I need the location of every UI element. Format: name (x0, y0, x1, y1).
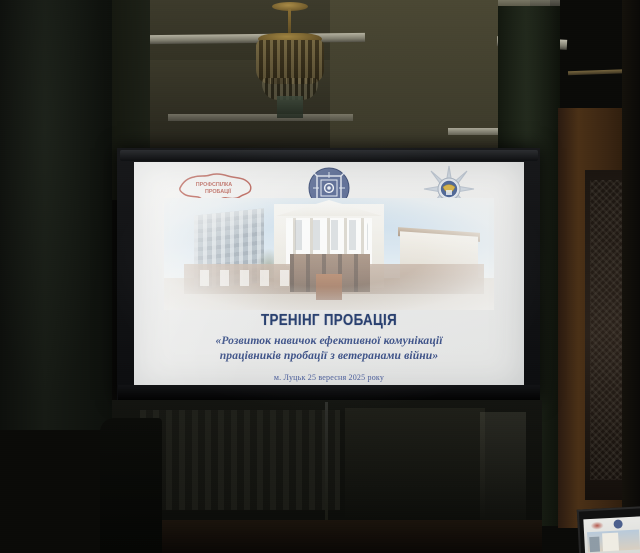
laptop-union-logo-icon (590, 521, 603, 530)
photo-entrance-door (316, 274, 342, 300)
svg-text:ПРОБАЦІЇ: ПРОБАЦІЇ (205, 188, 232, 195)
slide-subtitle-line-1: «Розвиток навичок ефективної комунікації (134, 334, 524, 347)
presentation-slide: ПРОФСПІЛКА ПРОБАЦІЇ (134, 162, 524, 390)
building-collage-photo (164, 198, 494, 310)
laptop-center-emblem-icon (613, 519, 622, 528)
chandelier-rod (288, 8, 291, 36)
foreground-dark-object (100, 418, 162, 553)
laptop-photo-block (589, 537, 600, 553)
lower-back-wall (345, 408, 485, 518)
slide-title: ТРЕНІНГ ПРОБАЦІЯ (161, 312, 496, 330)
pillar-left (0, 0, 112, 430)
slide-date-location: м. Луцьк 25 вересня 2025 року (134, 373, 524, 382)
presenter-laptop[interactable] (577, 506, 640, 553)
wall-far-right (622, 0, 640, 553)
crown-molding-lower-left (168, 114, 353, 121)
presenter-laptop-screen[interactable] (583, 516, 640, 553)
laptop-photo-building (602, 533, 619, 552)
slide-subtitle-line-2: працівників пробації з ветеранами війни» (134, 349, 524, 362)
svg-text:ПРОФСПІЛКА: ПРОФСПІЛКА (196, 182, 233, 188)
photo-arched-windows (290, 220, 368, 250)
screen-top-bar (120, 150, 538, 161)
conference-room-scene: ПРОФСПІЛКА ПРОБАЦІЇ (0, 0, 640, 553)
floor (112, 520, 542, 553)
chandelier-stem (277, 96, 303, 118)
lower-wall-panel (480, 412, 526, 532)
background-curtain (140, 410, 340, 510)
